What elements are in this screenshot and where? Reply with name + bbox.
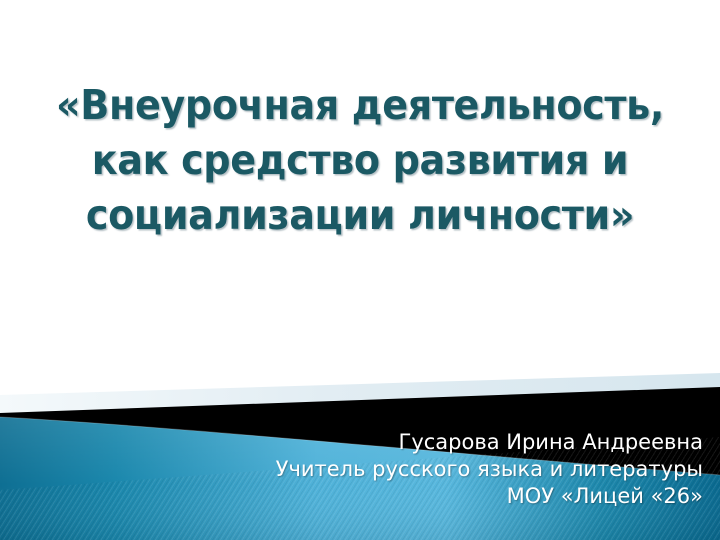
author-organization: МОУ «Лицей «26» <box>143 483 703 510</box>
presentation-slide: «Внеурочная деятельность, как средство р… <box>0 0 720 540</box>
slide-title-line-3: социализации личности» <box>53 188 667 243</box>
author-name: Гусарова Ирина Андреевна <box>143 429 703 456</box>
slide-title-line-1: «Внеурочная деятельность, <box>53 78 667 133</box>
author-role: Учитель русского языка и литературы <box>143 456 703 483</box>
author-block: Гусарова Ирина Андреевна Учитель русског… <box>143 429 703 510</box>
slide-title: «Внеурочная деятельность, как средство р… <box>30 78 690 243</box>
slide-title-line-2: как средство развития и <box>53 133 667 188</box>
